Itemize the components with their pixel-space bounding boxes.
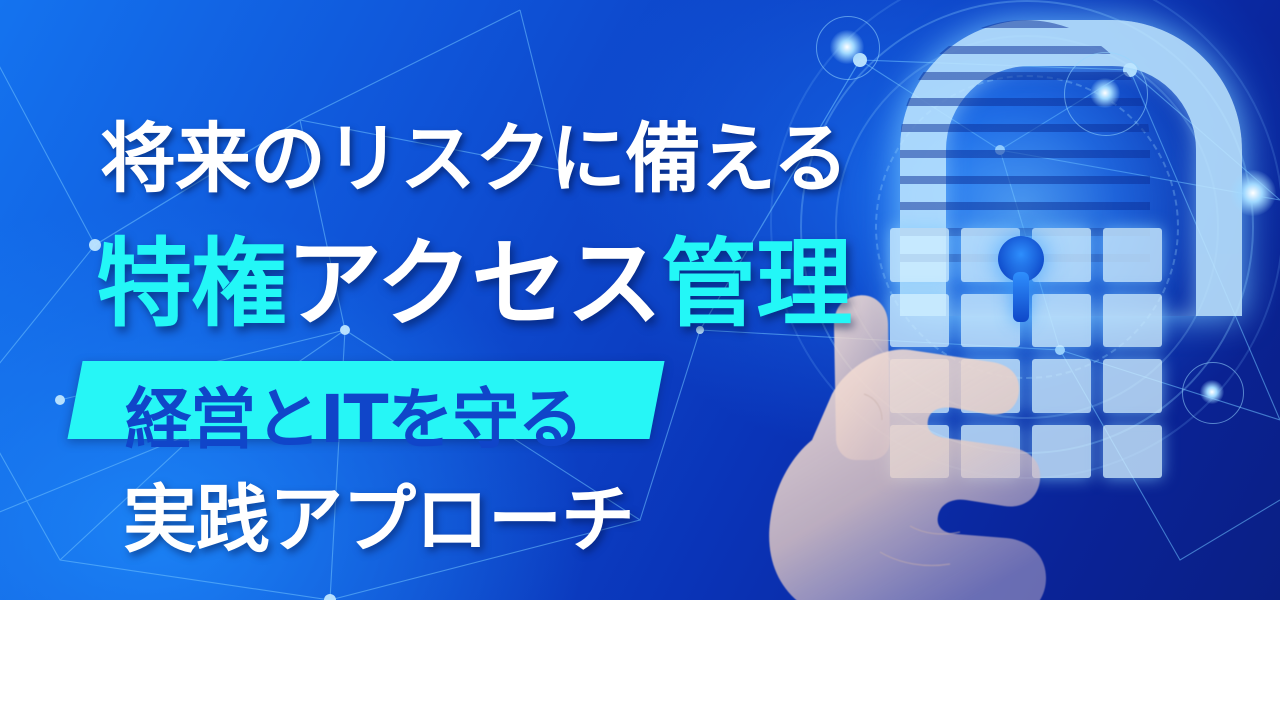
- webinar-banner: 将来のリスクに備える 特権アクセス管理 経営とITを守る 実践アプローチ WEB…: [0, 0, 1280, 720]
- glow-node-ring: [1064, 52, 1148, 136]
- headline-band-text: 経営とITを守る: [125, 366, 583, 462]
- headline-line-1: 将来のリスクに備える: [100, 97, 848, 207]
- headline-line-2-part-3: 管理: [661, 228, 851, 340]
- headline-line-4: 実践アプローチ: [123, 460, 634, 567]
- glow-node-ring: [1182, 362, 1244, 424]
- headline-block: 将来のリスクに備える 特権アクセス管理 経営とITを守る 実践アプローチ: [0, 0, 780, 600]
- hero-background: 将来のリスクに備える 特権アクセス管理 経営とITを守る 実践アプローチ: [0, 0, 1280, 600]
- glow-node: [1230, 170, 1276, 216]
- headline-line-2-part-2: アクセス: [286, 228, 661, 340]
- headline-line-2: 特権アクセス管理: [96, 206, 851, 345]
- footer-bar: WEBINAR 2026 3/11 水 14:00 − 15:00 マジ セミ: [0, 600, 1280, 720]
- headline-line-2-part-1: 特権: [96, 228, 286, 340]
- glow-node-ring: [816, 16, 880, 80]
